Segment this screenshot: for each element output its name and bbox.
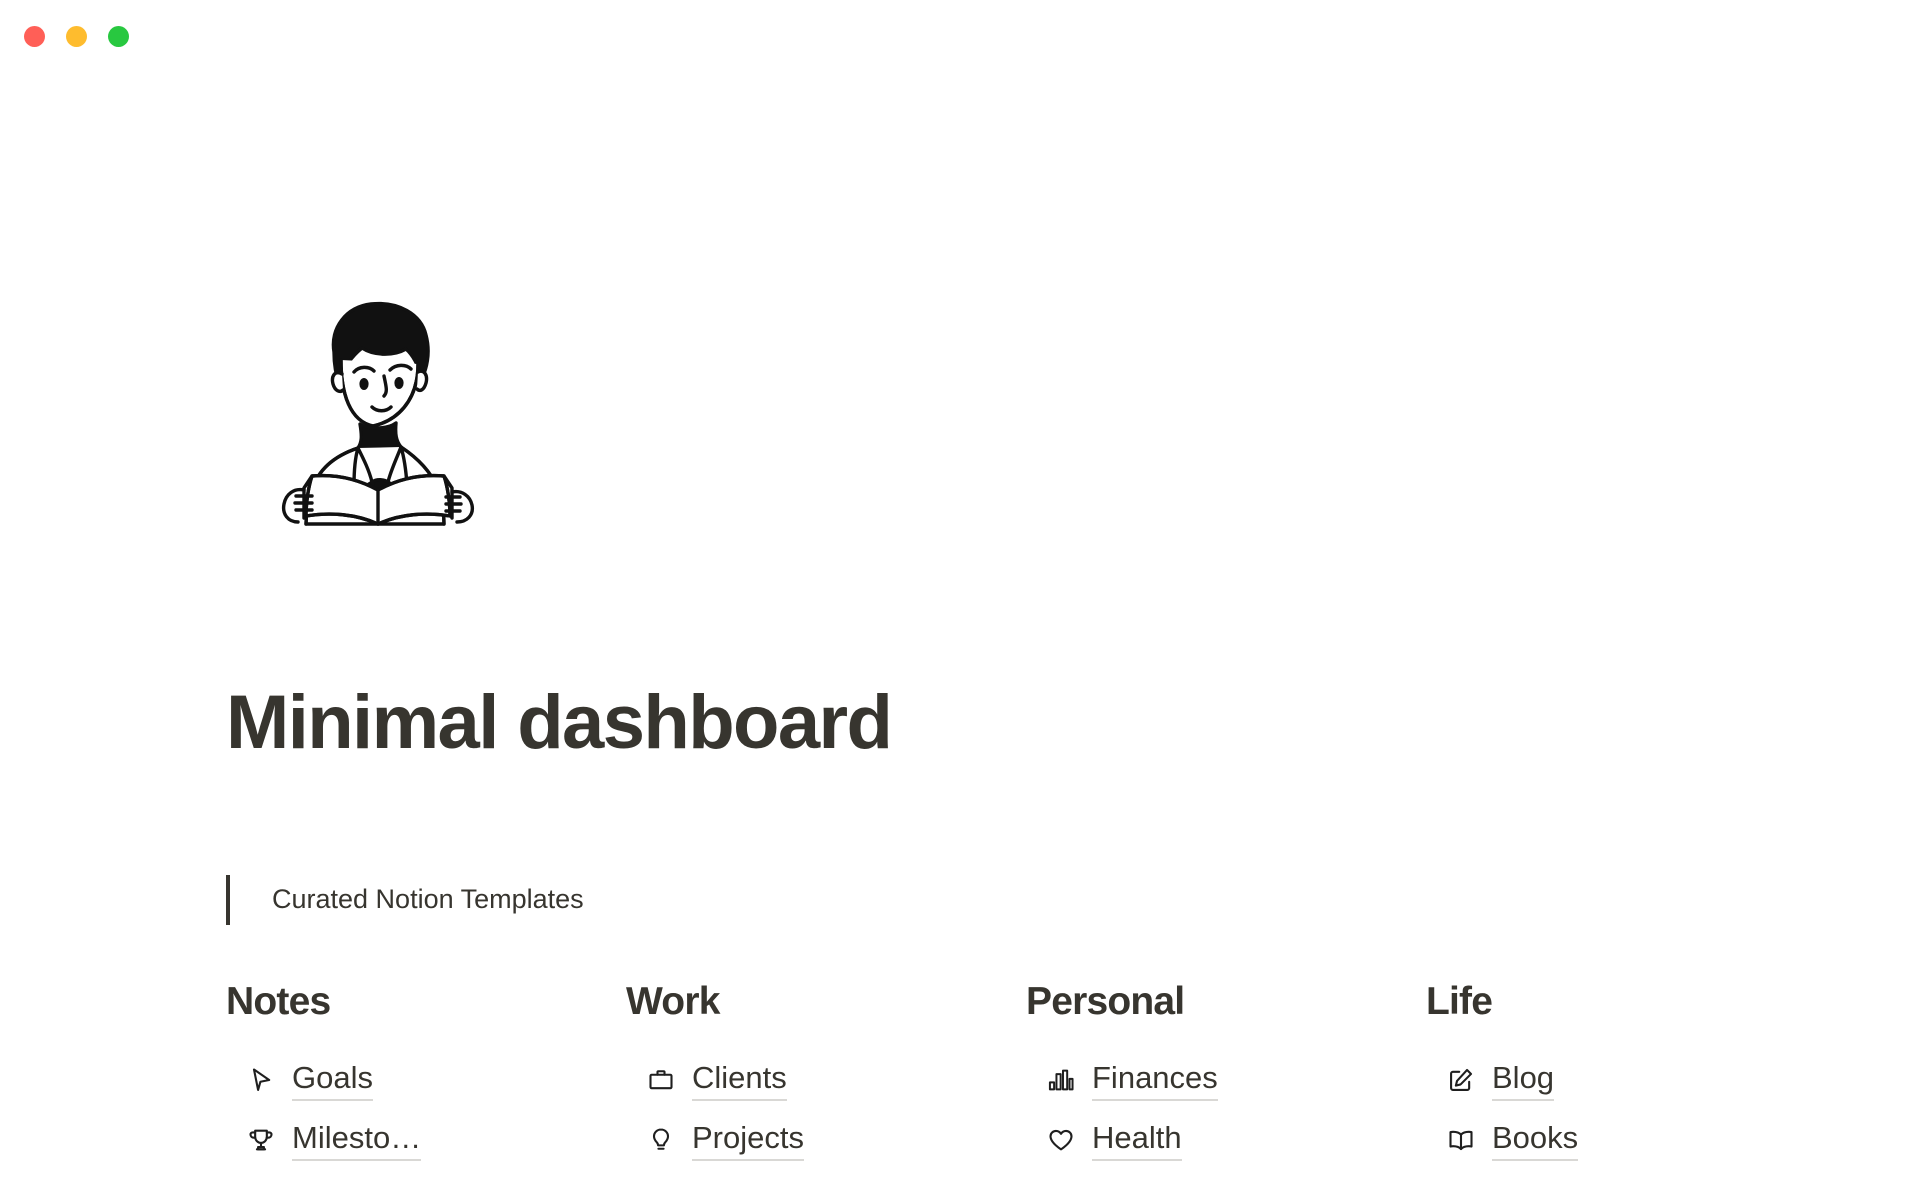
- link-label-projects: Projects: [692, 1119, 804, 1161]
- link-goals[interactable]: Goals: [226, 1050, 626, 1110]
- minimize-button[interactable]: [66, 26, 87, 47]
- page-title: Minimal dashboard: [226, 683, 891, 763]
- app-window: Minimal dashboard Curated Notion Templat…: [0, 0, 1920, 1200]
- callout-blockquote: Curated Notion Templates: [226, 873, 584, 927]
- link-label-health: Health: [1092, 1119, 1182, 1161]
- pencil-square-icon: [1444, 1063, 1478, 1097]
- link-health[interactable]: Health: [1026, 1110, 1426, 1170]
- link-blog[interactable]: Blog: [1426, 1050, 1826, 1110]
- open-book-icon: [1444, 1123, 1478, 1157]
- link-label-goals: Goals: [292, 1059, 373, 1101]
- link-label-blog: Blog: [1492, 1059, 1554, 1101]
- column-work: Work Clients: [626, 980, 1026, 1170]
- heart-icon: [1044, 1123, 1078, 1157]
- close-button[interactable]: [24, 26, 45, 47]
- cursor-arrow-icon: [244, 1063, 278, 1097]
- column-title-work: Work: [626, 980, 1026, 1025]
- person-reading-book-illustration: [238, 290, 508, 530]
- briefcase-icon: [644, 1063, 678, 1097]
- link-label-clients: Clients: [692, 1059, 787, 1101]
- column-personal: Personal Finances: [1026, 980, 1426, 1170]
- link-label-milestones: Milesto…: [292, 1119, 421, 1161]
- column-notes: Notes Goals: [226, 980, 626, 1170]
- link-milestones[interactable]: Milesto…: [226, 1110, 626, 1170]
- traffic-light-controls: [24, 26, 129, 47]
- bar-chart-icon: [1044, 1063, 1078, 1097]
- lightbulb-icon: [644, 1123, 678, 1157]
- link-label-books: Books: [1492, 1119, 1578, 1161]
- link-books[interactable]: Books: [1426, 1110, 1826, 1170]
- link-clients[interactable]: Clients: [626, 1050, 1026, 1110]
- column-title-personal: Personal: [1026, 980, 1426, 1025]
- column-life: Life Blog: [1426, 980, 1826, 1170]
- trophy-icon: [244, 1123, 278, 1157]
- link-finances[interactable]: Finances: [1026, 1050, 1426, 1110]
- link-projects[interactable]: Projects: [626, 1110, 1026, 1170]
- column-title-notes: Notes: [226, 980, 626, 1025]
- callout-accent-bar: [226, 875, 230, 925]
- maximize-button[interactable]: [108, 26, 129, 47]
- column-title-life: Life: [1426, 980, 1826, 1025]
- link-columns: Notes Goals: [226, 980, 1866, 1170]
- link-label-finances: Finances: [1092, 1059, 1218, 1101]
- window-titlebar: [0, 0, 1920, 72]
- callout-text: Curated Notion Templates: [272, 882, 584, 917]
